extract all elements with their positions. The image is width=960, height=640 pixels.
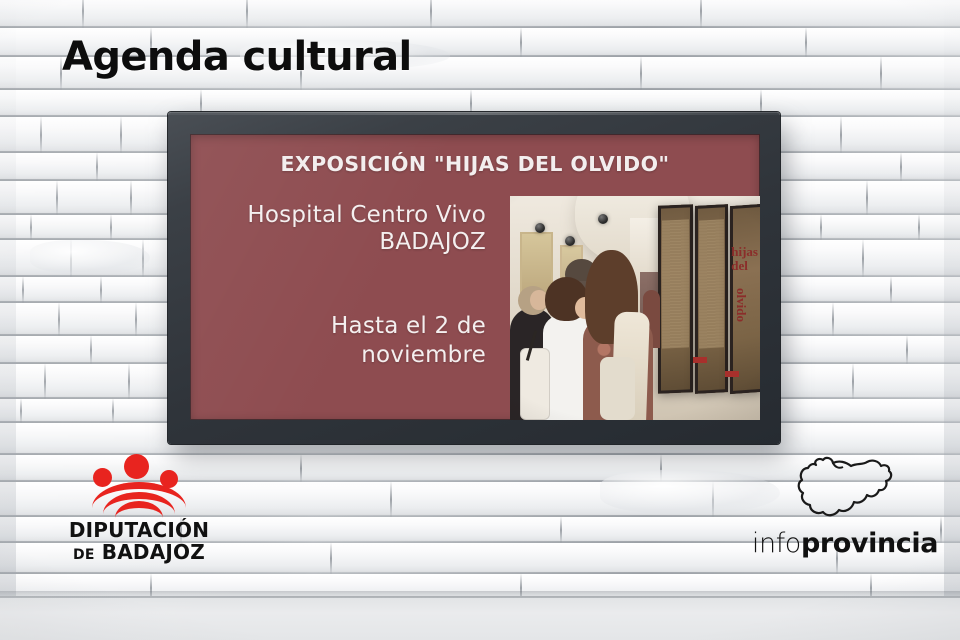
infoprovincia-info: info [752, 528, 801, 559]
slide-body: Hospital Centro Vivo BADAJOZ Hasta el 2 … [190, 194, 760, 420]
floor-strip [0, 596, 960, 640]
badajoz-province-map-icon [789, 452, 901, 526]
dates-label-line2: noviembre [212, 341, 486, 370]
photo-panel-text-olvido: olvido [733, 288, 749, 322]
slide-title: EXPOSICIÓN "HIJAS DEL OLVIDO" [190, 134, 760, 194]
diputacion-line2: DE BADAJOZ [44, 540, 234, 564]
infoprovincia-wordmark: infoprovincia [745, 528, 945, 559]
wall-mounted-tv: EXPOSICIÓN "HIJAS DEL OLVIDO" Hospital C… [168, 112, 780, 444]
tv-screen: EXPOSICIÓN "HIJAS DEL OLVIDO" Hospital C… [190, 134, 760, 420]
photo-panel-text-hijas: hijas del [731, 245, 758, 272]
infoprovincia-provincia: provincia [801, 528, 938, 559]
exhibition-photo: hijas del olvido [510, 196, 760, 420]
diputacion-de-badajoz-logo: DIPUTACIÓN DE BADAJOZ [44, 452, 234, 562]
slide-text-block: Hospital Centro Vivo BADAJOZ Hasta el 2 … [212, 202, 486, 370]
venue-label: Hospital Centro Vivo [212, 202, 486, 229]
infoprovincia-logo: infoprovincia [745, 452, 945, 562]
dates-label-line1: Hasta el 2 de [212, 312, 486, 341]
diputacion-badajoz: BADAJOZ [102, 540, 205, 564]
diputacion-de: DE [73, 547, 95, 563]
city-label: BADAJOZ [212, 229, 486, 256]
diputacion-crown-icon [81, 452, 197, 514]
tv-bezel: EXPOSICIÓN "HIJAS DEL OLVIDO" Hospital C… [168, 112, 780, 444]
diputacion-line1: DIPUTACIÓN [44, 518, 234, 542]
page-title: Agenda cultural [62, 34, 412, 80]
